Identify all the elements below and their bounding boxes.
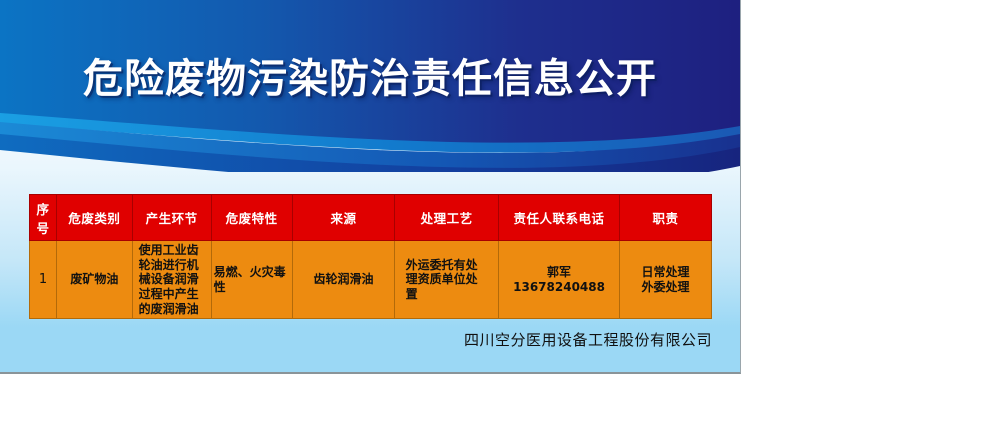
column-header-contact: 责任人联系电话	[499, 195, 620, 241]
column-header-category: 危废类别	[57, 195, 133, 241]
cell-contact: 郭军 13678240488	[499, 241, 620, 319]
cell-seq: 1	[30, 241, 57, 319]
company-name: 四川空分医用设备工程股份有限公司	[0, 329, 712, 350]
cell-process: 使用工业齿轮油进行机械设备润滑过程中产生的废润滑油	[132, 241, 211, 319]
column-header-treatment: 处理工艺	[395, 195, 499, 241]
column-header-process: 产生环节	[132, 195, 211, 241]
table-row: 1 废矿物油 使用工业齿轮油进行机械设备润滑过程中产生的废润滑油 易燃、火灾毒性…	[30, 241, 712, 319]
table-header-row: 序号 危废类别 产生环节 危废特性 来源 处理工艺 责任人联系电话 职责	[30, 195, 712, 241]
information-poster: 危险废物污染防治责任信息公开 序号 危废类别 产生环节 危废特性 来源 处理工艺…	[0, 0, 741, 374]
duty-line-1: 日常处理	[622, 265, 709, 280]
page-title: 危险废物污染防治责任信息公开	[0, 46, 740, 104]
cell-treatment-text: 外运委托有处理资质单位处置	[406, 258, 488, 302]
cell-characteristic-text: 易燃、火灾毒性	[214, 265, 296, 294]
column-header-duty: 职责	[620, 195, 712, 241]
cell-duty: 日常处理 外委处理	[620, 241, 712, 319]
duty-line-2: 外委处理	[622, 280, 709, 295]
cell-category: 废矿物油	[57, 241, 133, 319]
contact-person-name: 郭军	[501, 265, 617, 280]
poster-header-banner: 危险废物污染防治责任信息公开	[0, 0, 740, 172]
hazardous-waste-table: 序号 危废类别 产生环节 危废特性 来源 处理工艺 责任人联系电话 职责 1 废…	[29, 194, 712, 319]
column-header-source: 来源	[292, 195, 395, 241]
contact-phone-number: 13678240488	[501, 280, 617, 295]
column-header-characteristic: 危废特性	[211, 195, 292, 241]
cell-process-text: 使用工业齿轮油进行机械设备润滑过程中产生的废润滑油	[139, 243, 205, 316]
cell-source: 齿轮润滑油	[292, 241, 395, 319]
cell-characteristic: 易燃、火灾毒性	[211, 241, 292, 319]
cell-treatment: 外运委托有处理资质单位处置	[395, 241, 499, 319]
column-header-seq: 序号	[30, 195, 57, 241]
